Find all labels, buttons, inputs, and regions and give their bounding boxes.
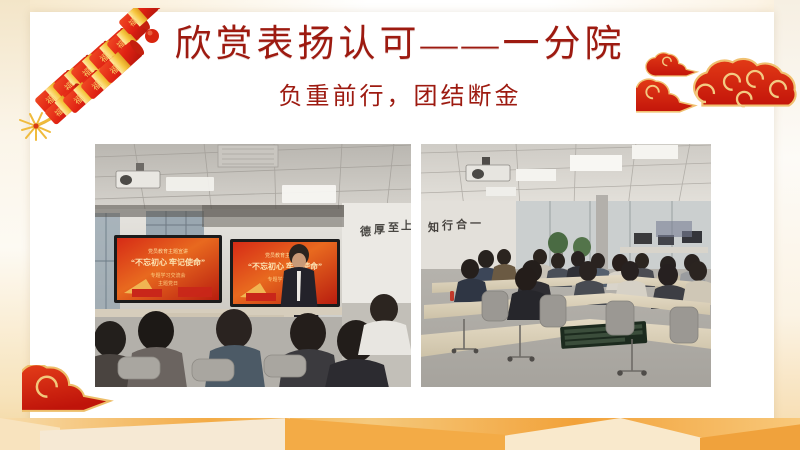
photo-meeting-room-presentation: 德厚 至上 党员教育主题宣讲 “不忘初心 牢记使命” 专题学习交流会 主题党日 xyxy=(94,143,412,388)
band-facet xyxy=(700,418,800,450)
firecrackers-svg: 福 福 福 福 xyxy=(18,8,168,148)
svg-text:一: 一 xyxy=(470,218,481,230)
svg-text:党员教育主题宣讲: 党员教育主题宣讲 xyxy=(148,248,188,255)
photo-right-image: 知行 合一 xyxy=(420,143,712,388)
svg-text:主题党日: 主题党日 xyxy=(158,280,178,287)
band-facet xyxy=(285,418,515,450)
photo-training-room-audience: 知行 合一 xyxy=(420,143,712,388)
band-facet xyxy=(40,418,290,450)
auspicious-clouds-icon xyxy=(636,40,800,125)
svg-text:“不忘初心 牢记使命”: “不忘初心 牢记使命” xyxy=(248,261,322,271)
gold-faceted-band xyxy=(0,418,800,450)
svg-text:行: 行 xyxy=(441,218,453,232)
svg-text:厚: 厚 xyxy=(374,223,385,236)
svg-text:德: 德 xyxy=(359,224,371,238)
band-facet xyxy=(505,418,715,450)
svg-text:知: 知 xyxy=(427,220,439,234)
clouds-top-right-svg xyxy=(636,40,800,125)
photo-left-image: 德厚 至上 党员教育主题宣讲 “不忘初心 牢记使命” 专题学习交流会 主题党日 xyxy=(94,143,412,388)
svg-text:合: 合 xyxy=(456,217,468,231)
svg-text:“不忘初心 牢记使命”: “不忘初心 牢记使命” xyxy=(131,257,205,267)
svg-text:至: 至 xyxy=(388,221,399,234)
firecrackers-icon: 福 福 福 福 xyxy=(18,8,168,148)
svg-text:专题学习交流会: 专题学习交流会 xyxy=(150,272,185,279)
slide-root: 欣赏表扬认可——一分院 负重前行，团结断金 xyxy=(0,0,800,450)
svg-text:上: 上 xyxy=(401,218,412,232)
